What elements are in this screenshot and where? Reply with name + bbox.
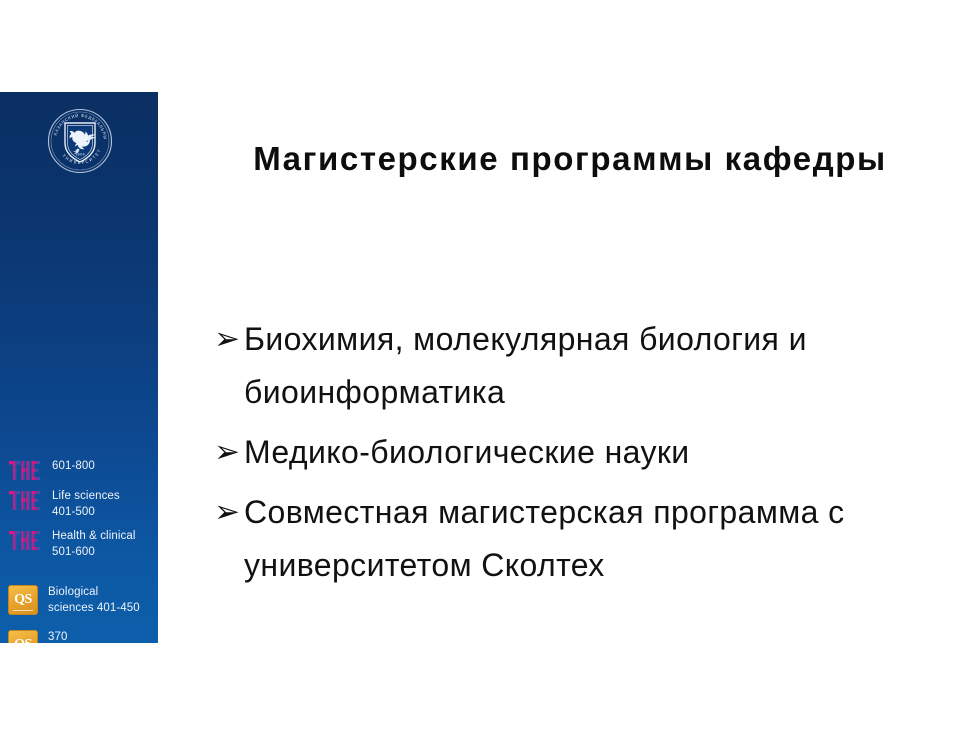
list-item: ➢ Совместная магистерская программа с ун… [214, 486, 914, 592]
arrow-bullet-icon: ➢ [214, 426, 244, 479]
the-ranking-line: 401-500 [52, 505, 120, 521]
slide: КАЗАНСКИЙ ФЕДЕРАЛЬНЫЙ УНИВЕРСИТЕТ 1804 [0, 0, 980, 735]
program-list: ➢ Биохимия, молекулярная биология и биои… [214, 313, 914, 599]
the-ranking-row: Life sciences 401-500 [8, 489, 120, 520]
list-item-label: Совместная магистерская программа с унив… [244, 486, 854, 592]
qs-ranking-text: Biological sciences 401-450 [48, 585, 140, 616]
list-item: ➢ Биохимия, молекулярная биология и биои… [214, 313, 914, 419]
the-ranking-line: 501-600 [52, 545, 136, 561]
the-ranking-line: Life sciences [52, 489, 120, 505]
qs-logo-icon: QS [8, 630, 38, 643]
qs-ranking-text: 370 [48, 630, 68, 643]
page-title: Магистерские программы кафедры [200, 135, 940, 182]
arrow-bullet-icon: ➢ [214, 486, 244, 539]
the-ranking-row: Health & clinical 501-600 [8, 529, 136, 560]
the-ranking-line: 601-800 [52, 459, 95, 475]
sidebar-branding-panel: КАЗАНСКИЙ ФЕДЕРАЛЬНЫЙ УНИВЕРСИТЕТ 1804 [0, 92, 158, 643]
the-ranking-text: Health & clinical 501-600 [52, 529, 136, 560]
list-item-label: Медико-биологические науки [244, 426, 690, 479]
qs-ranking-line: sciences 401-450 [48, 601, 140, 617]
qs-ranking-row: QS Biological sciences 401-450 [8, 585, 140, 616]
the-ranking-text: 601-800 [52, 459, 95, 475]
times-higher-education-logo-icon [8, 459, 42, 485]
list-item: ➢ Медико-биологические науки [214, 426, 914, 479]
qs-ranking-line: 370 [48, 630, 68, 643]
qs-ranking-row: QS 370 [8, 630, 68, 643]
the-ranking-row: 601-800 [8, 459, 95, 485]
list-item-label: Биохимия, молекулярная биология и биоинф… [244, 313, 854, 419]
kazan-federal-university-emblem-icon: КАЗАНСКИЙ ФЕДЕРАЛЬНЫЙ УНИВЕРСИТЕТ 1804 [46, 107, 114, 175]
qs-ranking-line: Biological [48, 585, 140, 601]
times-higher-education-logo-icon [8, 489, 42, 515]
times-higher-education-logo-icon [8, 529, 42, 555]
arrow-bullet-icon: ➢ [214, 313, 244, 366]
qs-logo-icon: QS [8, 585, 38, 615]
the-ranking-text: Life sciences 401-500 [52, 489, 120, 520]
the-ranking-line: Health & clinical [52, 529, 136, 545]
svg-text:1804: 1804 [75, 152, 85, 156]
